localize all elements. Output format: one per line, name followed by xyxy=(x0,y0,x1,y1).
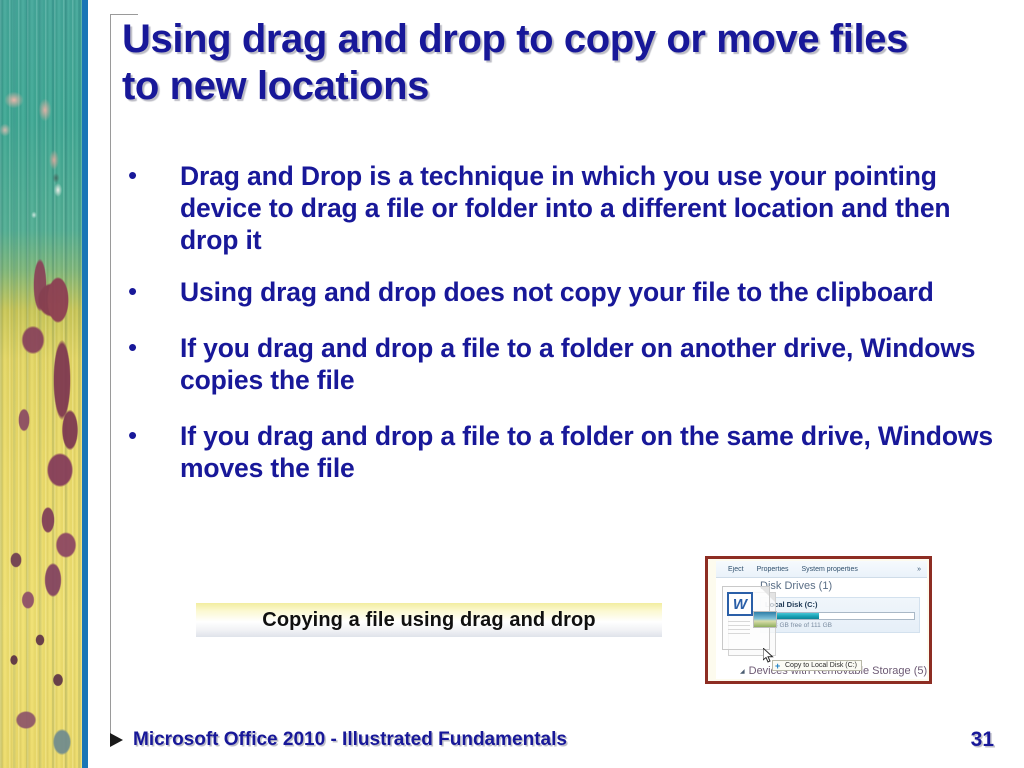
toolbar-overflow-chevron-icon[interactable]: » xyxy=(917,566,921,573)
toolbar-item-eject[interactable]: Eject xyxy=(728,566,744,573)
list-item: • If you drag and drop a file to a folde… xyxy=(124,332,1004,396)
texture-highlight-spots xyxy=(0,0,82,768)
toolbar-item-properties[interactable]: Properties xyxy=(757,566,789,573)
bullet-marker-icon: • xyxy=(124,332,180,363)
blue-vertical-rule xyxy=(82,0,88,768)
page-title: Using drag and drop to copy or move file… xyxy=(122,16,912,110)
slide: Using drag and drop to copy or move file… xyxy=(0,0,1024,768)
dragged-file-ghost-front[interactable]: W xyxy=(722,586,770,650)
bracket-vertical-line xyxy=(110,14,111,746)
page-fold-corner-icon xyxy=(760,587,769,596)
decorative-texture-strip xyxy=(0,0,82,768)
drop-action-tooltip: Copy to Local Disk (C:) xyxy=(772,660,862,671)
list-item-text: If you drag and drop a file to a folder … xyxy=(180,332,1004,396)
mouse-cursor-icon xyxy=(763,648,774,668)
copy-plus-icon: + xyxy=(775,662,780,671)
drive-group-heading: Disk Drives (1) xyxy=(760,580,832,592)
page-number: 31 xyxy=(971,728,994,752)
explorer-content-pane: Disk Drives (1) Local Disk (C:) 29.3 GB … xyxy=(716,578,927,679)
drive-tile-local-disk[interactable]: Local Disk (C:) 29.3 GB free of 111 GB xyxy=(760,597,920,633)
bullet-list: • Drag and Drop is a technique in which … xyxy=(124,160,1004,485)
expander-triangle-icon[interactable]: ◢ xyxy=(740,668,745,675)
figure-screenshot-thumbnail: Eject Properties System properties » Dis… xyxy=(705,556,932,684)
explorer-toolbar: Eject Properties System properties » xyxy=(716,561,927,578)
drive-free-space-label: 29.3 GB free of 111 GB xyxy=(765,622,915,629)
list-item: • Using drag and drop does not copy your… xyxy=(124,276,1004,308)
bullet-marker-icon: • xyxy=(124,160,180,191)
list-item-text: Drag and Drop is a technique in which yo… xyxy=(180,160,1004,256)
drive-capacity-bar xyxy=(765,612,915,620)
drive-name-label: Local Disk (C:) xyxy=(765,600,915,609)
footer-triangle-icon xyxy=(110,733,123,747)
list-item-text: Using drag and drop does not copy your f… xyxy=(180,276,1004,308)
picture-thumbnail-icon xyxy=(753,611,777,628)
bullet-marker-icon: • xyxy=(124,420,180,451)
figure-caption-text: Copying a file using drag and drop xyxy=(262,609,595,632)
footer-title: Microsoft Office 2010 - Illustrated Fund… xyxy=(133,729,971,751)
bracket-horizontal-line xyxy=(110,14,138,15)
document-text-lines-icon xyxy=(728,621,750,637)
toolbar-item-system-properties[interactable]: System properties xyxy=(801,566,857,573)
footer: Microsoft Office 2010 - Illustrated Fund… xyxy=(110,728,1010,752)
list-item-text: If you drag and drop a file to a folder … xyxy=(180,420,1004,484)
bullet-marker-icon: • xyxy=(124,276,180,307)
screenshot-canvas: Eject Properties System properties » Dis… xyxy=(708,559,929,681)
figure-caption-plate: Copying a file using drag and drop xyxy=(196,603,662,637)
list-item: • If you drag and drop a file to a folde… xyxy=(124,420,1004,484)
word-document-icon: W xyxy=(727,592,753,616)
list-item: • Drag and Drop is a technique in which … xyxy=(124,160,1004,256)
